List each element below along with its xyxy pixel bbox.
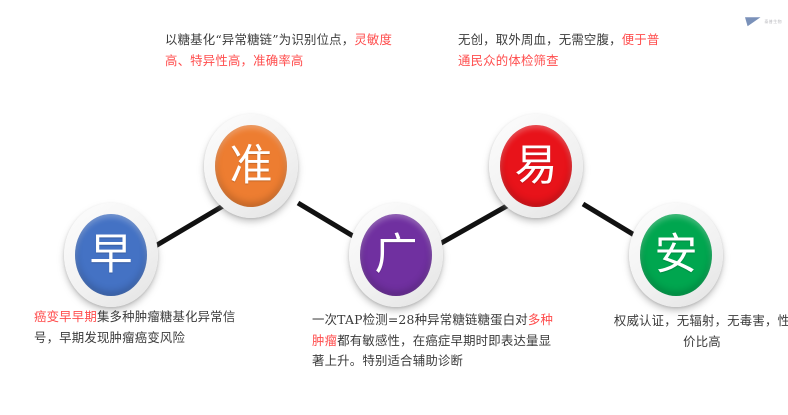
node-yi-glyph: 易	[515, 145, 558, 188]
caption-yi-plain: 无创，取外周血，无需空腹，	[458, 32, 622, 47]
node-an-disc: 安	[640, 214, 712, 296]
node-zao-disc: 早	[75, 214, 147, 296]
node-guang[interactable]: 广	[349, 203, 443, 307]
caption-zhun: 以糖基化“异常糖链”为识别位点，灵敏度高、特异性高，准确率高	[165, 30, 393, 71]
node-zao-glyph: 早	[90, 234, 133, 277]
node-zhun-halo: 准	[204, 114, 298, 218]
node-an[interactable]: 安	[629, 203, 723, 307]
node-guang-disc: 广	[360, 214, 432, 296]
caption-an-plain: 权威认证，无辐射，无毒害，性价比高	[614, 313, 788, 349]
node-guang-glyph: 广	[375, 234, 418, 277]
node-guang-halo: 广	[349, 203, 443, 307]
caption-zao: 癌变早早期集多种肿瘤糖基化异常信号，早期发现肿瘤癌变风险	[34, 307, 249, 348]
caption-guang-plain2: 都有敏感性，在癌症早期时即表达量显著上升。特别适合辅助诊断	[312, 333, 551, 369]
node-zao-halo: 早	[64, 203, 158, 307]
node-zhun-glyph: 准	[230, 145, 273, 188]
node-zao[interactable]: 早	[64, 203, 158, 307]
node-yi[interactable]: 易	[489, 114, 583, 218]
caption-zao-highlight: 癌变早早期	[34, 309, 97, 324]
node-an-halo: 安	[629, 203, 723, 307]
caption-zhun-plain: 以糖基化“异常糖链”为识别位点，	[165, 32, 354, 47]
node-yi-disc: 易	[500, 125, 572, 207]
caption-guang: 一次TAP检测=28种异常糖链糖蛋白对多种肿瘤都有敏感性，在癌症早期时即表达量显…	[312, 310, 560, 372]
node-zhun[interactable]: 准	[204, 114, 298, 218]
slide-canvas: 泰普生物 早 准 广 易	[0, 0, 788, 415]
caption-an: 权威认证，无辐射，无毒害，性价比高	[612, 311, 788, 352]
node-zhun-disc: 准	[215, 125, 287, 207]
node-an-glyph: 安	[655, 234, 698, 277]
caption-yi: 无创，取外周血，无需空腹，便于普通民众的体检筛查	[458, 30, 670, 71]
caption-guang-plain1: 一次TAP检测=28种异常糖链糖蛋白对	[312, 312, 528, 327]
node-yi-halo: 易	[489, 114, 583, 218]
